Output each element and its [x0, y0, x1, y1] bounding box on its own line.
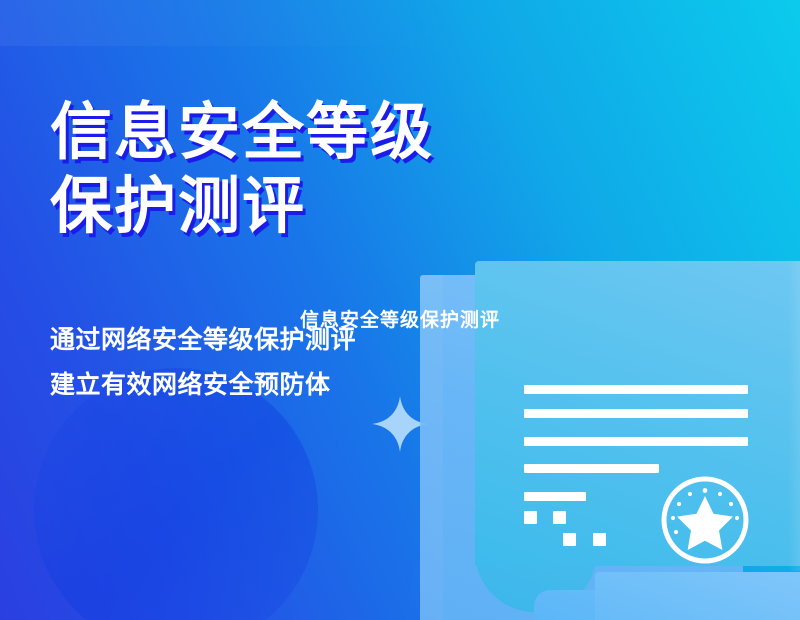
certificate-text-square: [563, 533, 576, 546]
certificate-text-line: [524, 409, 748, 418]
certificate-text-line: [524, 437, 748, 446]
certificate-base-plate: [595, 572, 800, 620]
poster-canvas: 信息安全等级 保护测评 通过网络安全等级保护测评 建立有效网络安全预防体 信息安…: [0, 0, 800, 620]
certificate-text-square: [593, 533, 606, 546]
certificate-text-line: [524, 464, 659, 473]
certificate-text-line: [524, 385, 748, 394]
star-seal-icon: [657, 472, 753, 568]
certificate-title: 信息安全等级保护测评: [0, 305, 800, 332]
certificate-right-edge-highlight: [788, 261, 800, 571]
certificate-text-square: [553, 511, 566, 524]
certificate-illustration: 信息安全等级保护测评: [0, 0, 800, 620]
certificate-text-square: [524, 511, 537, 524]
certificate-text-line: [524, 492, 586, 501]
